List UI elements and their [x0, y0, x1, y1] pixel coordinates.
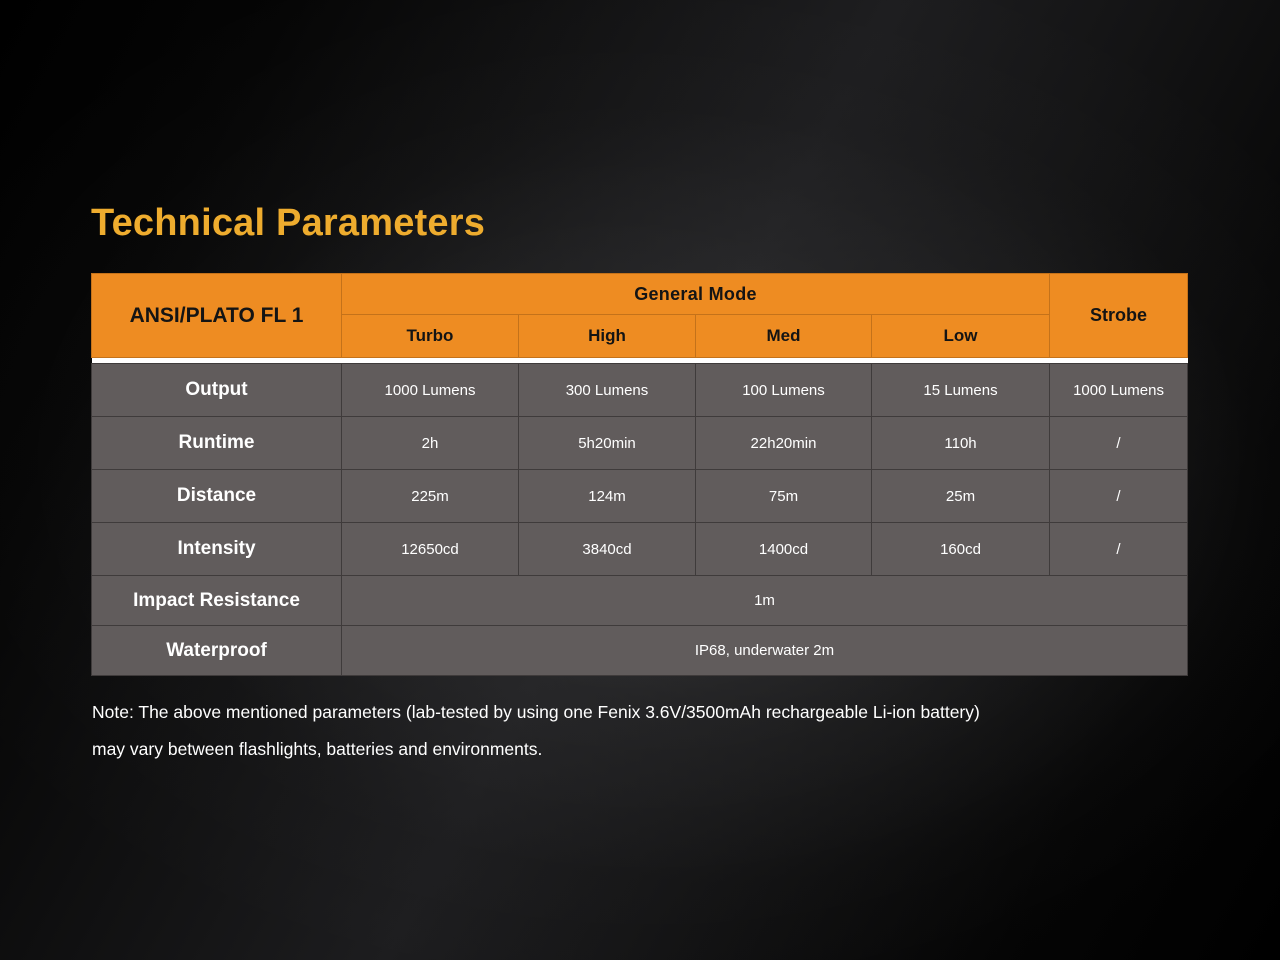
cell-runtime-low: 110h: [872, 417, 1050, 470]
table-row: Impact Resistance 1m: [92, 576, 1188, 626]
cell-intensity-med: 1400cd: [696, 523, 872, 576]
cell-waterproof-value: IP68, underwater 2m: [342, 626, 1188, 676]
footnote-line-1: Note: The above mentioned parameters (la…: [92, 694, 1194, 731]
table-row: Distance 225m 124m 75m 25m /: [92, 470, 1188, 523]
cell-distance-turbo: 225m: [342, 470, 519, 523]
cell-impact-resistance-value: 1m: [342, 576, 1188, 626]
table-header-row-top: ANSI/PLATO FL 1 General Mode Strobe: [92, 274, 1188, 315]
row-label-runtime: Runtime: [92, 417, 342, 470]
header-mode-low: Low: [872, 315, 1050, 358]
cell-distance-high: 124m: [519, 470, 696, 523]
footnote: Note: The above mentioned parameters (la…: [92, 694, 1194, 768]
header-strobe: Strobe: [1050, 274, 1188, 358]
table-row: Runtime 2h 5h20min 22h20min 110h /: [92, 417, 1188, 470]
row-label-output: Output: [92, 364, 342, 417]
cell-runtime-high: 5h20min: [519, 417, 696, 470]
technical-parameters-table: ANSI/PLATO FL 1 General Mode Strobe Turb…: [91, 273, 1187, 676]
row-label-waterproof: Waterproof: [92, 626, 342, 676]
table-row: Waterproof IP68, underwater 2m: [92, 626, 1188, 676]
row-label-distance: Distance: [92, 470, 342, 523]
cell-intensity-high: 3840cd: [519, 523, 696, 576]
cell-output-low: 15 Lumens: [872, 364, 1050, 417]
table-row: Output 1000 Lumens 300 Lumens 100 Lumens…: [92, 364, 1188, 417]
cell-distance-strobe: /: [1050, 470, 1188, 523]
cell-intensity-low: 160cd: [872, 523, 1050, 576]
header-ansi-plato: ANSI/PLATO FL 1: [92, 274, 342, 358]
footnote-line-2: may vary between flashlights, batteries …: [92, 731, 1194, 768]
header-general-mode: General Mode: [342, 274, 1050, 315]
cell-distance-med: 75m: [696, 470, 872, 523]
cell-runtime-strobe: /: [1050, 417, 1188, 470]
row-label-intensity: Intensity: [92, 523, 342, 576]
header-mode-high: High: [519, 315, 696, 358]
cell-runtime-turbo: 2h: [342, 417, 519, 470]
cell-distance-low: 25m: [872, 470, 1050, 523]
cell-intensity-strobe: /: [1050, 523, 1188, 576]
slide: Technical Parameters ANSI/PLATO FL 1 Gen…: [0, 0, 1280, 960]
header-mode-med: Med: [696, 315, 872, 358]
cell-output-high: 300 Lumens: [519, 364, 696, 417]
cell-intensity-turbo: 12650cd: [342, 523, 519, 576]
header-mode-turbo: Turbo: [342, 315, 519, 358]
row-label-impact-resistance: Impact Resistance: [92, 576, 342, 626]
page-title: Technical Parameters: [91, 202, 485, 245]
cell-output-turbo: 1000 Lumens: [342, 364, 519, 417]
cell-output-med: 100 Lumens: [696, 364, 872, 417]
cell-runtime-med: 22h20min: [696, 417, 872, 470]
cell-output-strobe: 1000 Lumens: [1050, 364, 1188, 417]
table-row: Intensity 12650cd 3840cd 1400cd 160cd /: [92, 523, 1188, 576]
